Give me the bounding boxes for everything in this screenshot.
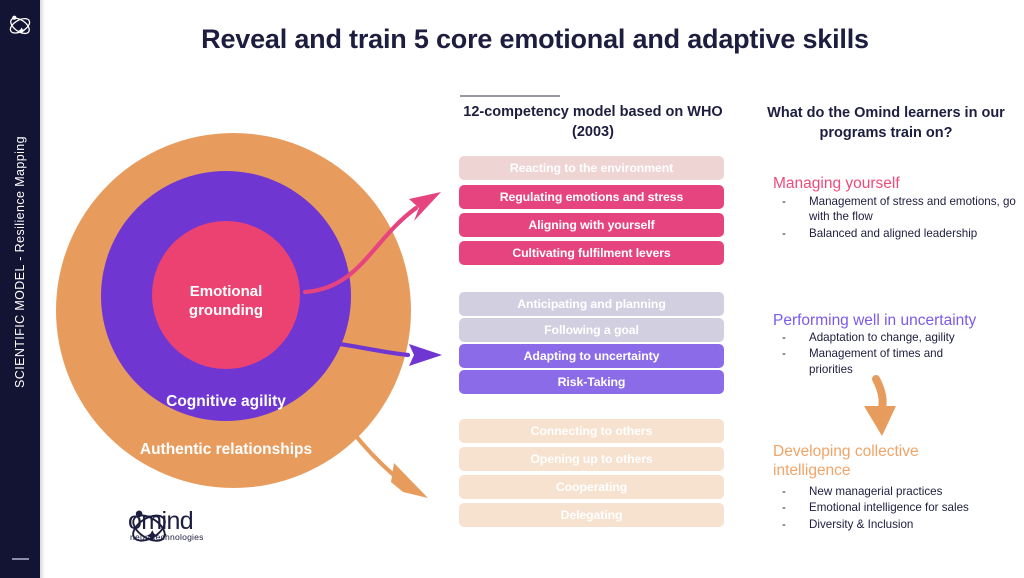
bullet-dash: - — [782, 226, 809, 241]
logo-subtitle: neurotechnologies — [130, 532, 204, 542]
competency-bar-connecting-to-others[interactable]: Connecting to others — [459, 419, 724, 443]
list-item-label: Management of stress and emotions, go wi… — [809, 194, 1022, 225]
list-item: - Balanced and aligned leadership — [782, 226, 1022, 241]
ring-label-authentic-relationships: Authentic relationships — [81, 441, 371, 459]
bullet-dash: - — [782, 517, 809, 532]
ring-label-emotional-grounding: Emotional grounding — [156, 283, 296, 321]
program-section-title-developing-collective-intelligence: Developing collective intelligence — [773, 442, 943, 481]
list-item: - Adaptation to change, agility — [782, 330, 1022, 345]
list-item-label: Adaptation to change, agility — [809, 330, 1022, 345]
page-title: Reveal and train 5 core emotional and ad… — [60, 24, 1010, 55]
list-item-label: Balanced and aligned leadership — [809, 226, 1022, 241]
list-item: - Management of times and priorities — [782, 346, 1022, 377]
sidebar-rule — [12, 558, 29, 560]
list-item-label: Emotional intelligence for sales — [809, 500, 1022, 515]
program-section-list-managing-yourself: - Management of stress and emotions, go … — [782, 194, 1022, 242]
competency-model-heading: 12-competency model based on WHO (2003) — [448, 103, 738, 142]
slide-canvas: SCIENTIFIC MODEL - Resilience Mapping Re… — [0, 0, 1024, 578]
competency-bar-following-a-goal[interactable]: Following a goal — [459, 318, 724, 342]
list-item: - Emotional intelligence for sales — [782, 500, 1022, 515]
ring-label-cognitive-agility: Cognitive agility — [116, 393, 336, 411]
programs-heading: What do the Omind learners in our progra… — [752, 104, 1020, 143]
competency-bar-aligning-with-yourself[interactable]: Aligning with yourself — [459, 213, 724, 237]
down-arrow-icon — [864, 379, 896, 436]
list-item-label: Diversity & Inclusion — [809, 517, 1022, 532]
bullet-dash: - — [782, 194, 809, 225]
program-section-title-managing-yourself: Managing yourself — [773, 174, 1013, 193]
list-item-label: Management of times and priorities — [809, 346, 959, 377]
list-item: - Diversity & Inclusion — [782, 517, 1022, 532]
competency-bar-adapting-to-uncertainty[interactable]: Adapting to uncertainty — [459, 344, 724, 368]
competency-bar-anticipating-and-planning[interactable]: Anticipating and planning — [459, 292, 724, 316]
sidebar-label: SCIENTIFIC MODEL - Resilience Mapping — [13, 52, 27, 472]
bullet-dash: - — [782, 346, 809, 377]
left-sidebar: SCIENTIFIC MODEL - Resilience Mapping — [0, 0, 40, 578]
competency-bar-risk-taking[interactable]: Risk-Taking — [459, 370, 724, 394]
bullet-dash: - — [782, 484, 809, 499]
program-section-list-developing-collective-intelligence: - New managerial practices - Emotional i… — [782, 484, 1022, 533]
list-item: - New managerial practices — [782, 484, 1022, 499]
sidebar-divider — [40, 0, 45, 578]
program-section-list-performing-well-in-uncertainty: - Adaptation to change, agility - Manage… — [782, 330, 1022, 378]
atom-icon — [7, 12, 33, 38]
list-item: - Management of stress and emotions, go … — [782, 194, 1022, 225]
competency-bar-delegating[interactable]: Delegating — [459, 503, 724, 527]
competency-bar-regulating-emotions-and-stress[interactable]: Regulating emotions and stress — [459, 185, 724, 209]
center-divider-rule — [460, 95, 560, 97]
bullet-dash: - — [782, 500, 809, 515]
competency-bar-reacting-to-the-environment[interactable]: Reacting to the environment — [459, 156, 724, 180]
list-item-label: New managerial practices — [809, 484, 1022, 499]
program-section-title-performing-well-in-uncertainty: Performing well in uncertainty — [773, 311, 1013, 330]
resilience-circles-diagram: Emotional grounding Cognitive agility Au… — [56, 133, 431, 488]
competency-bar-cooperating[interactable]: Cooperating — [459, 475, 724, 499]
competency-bar-opening-up-to-others[interactable]: Opening up to others — [459, 447, 724, 471]
bullet-dash: - — [782, 330, 809, 345]
competency-bar-cultivating-fulfilment-levers[interactable]: Cultivating fulfilment levers — [459, 241, 724, 265]
